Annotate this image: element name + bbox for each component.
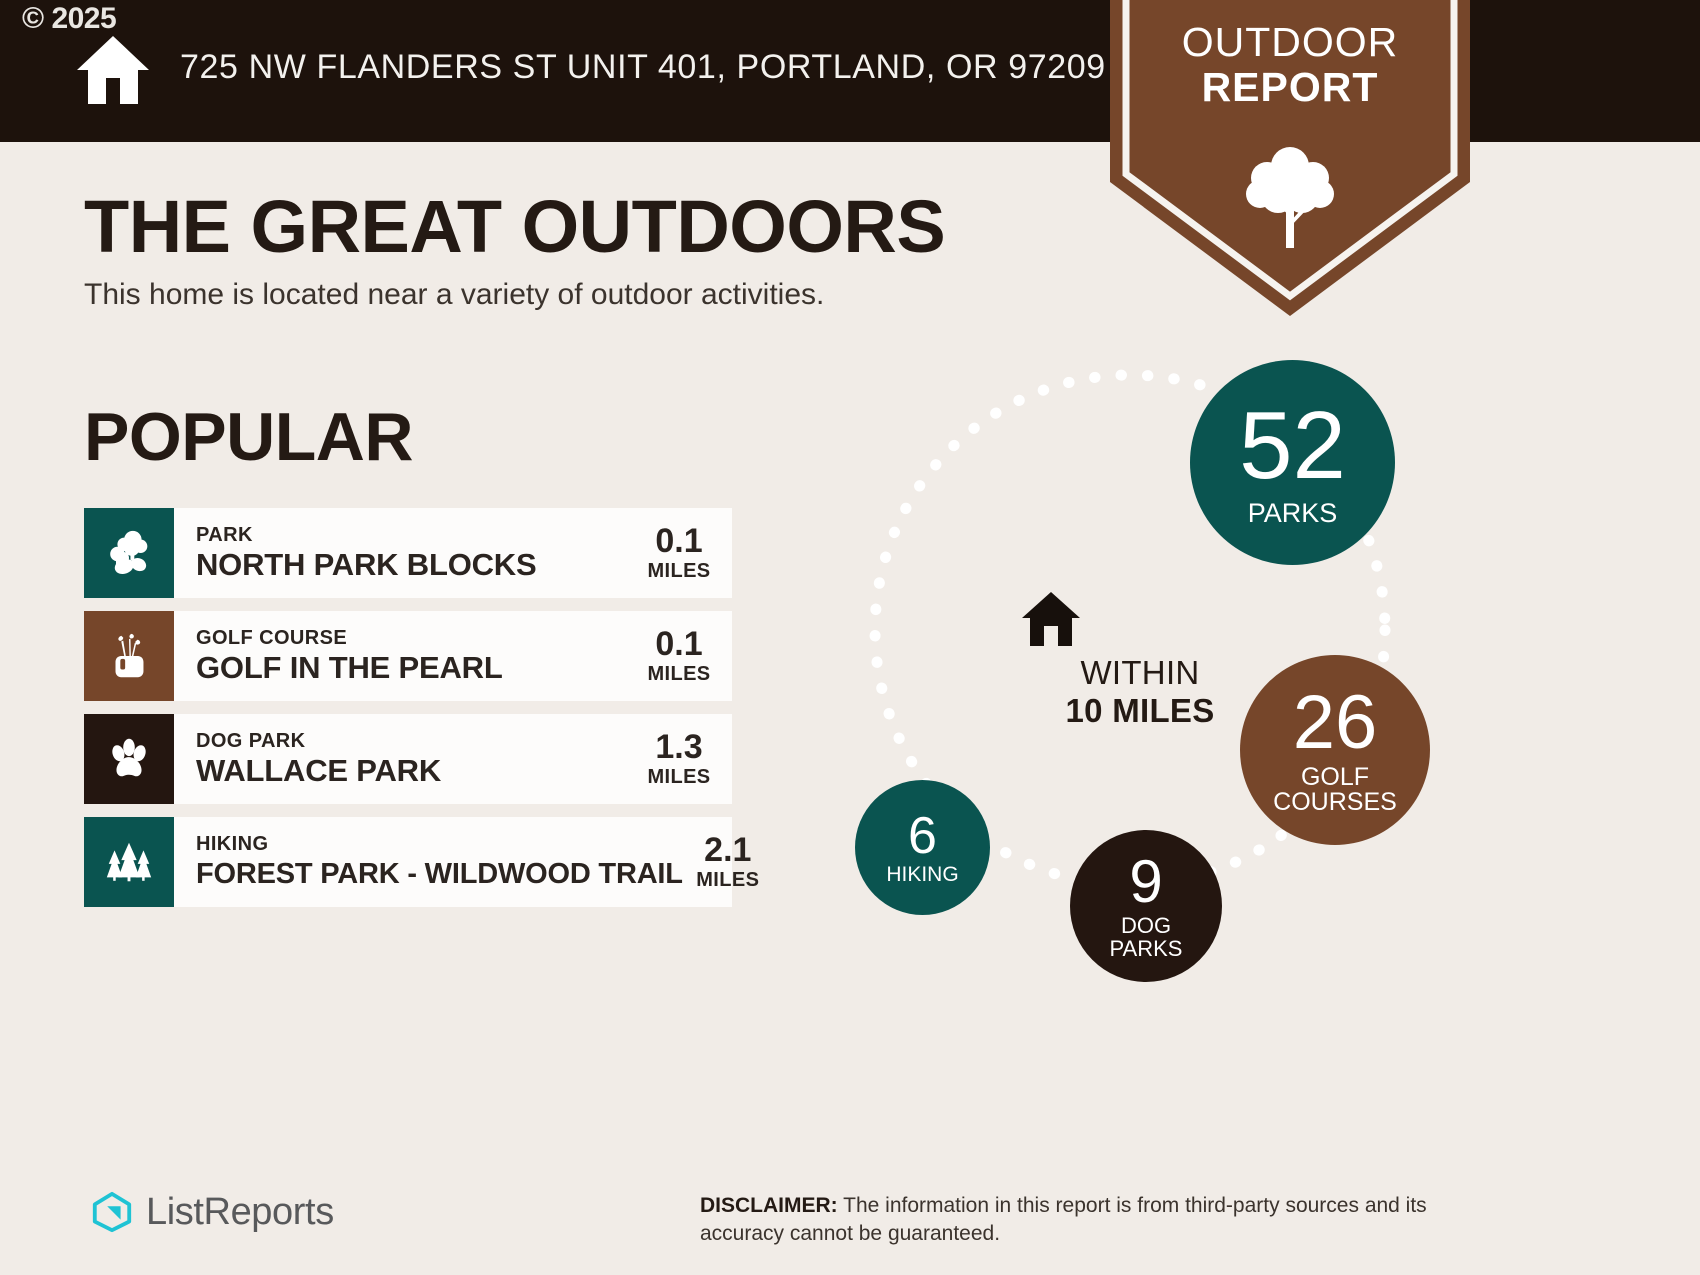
list-item-text: HIKING FOREST PARK - WILDWOOD TRAIL xyxy=(174,817,683,907)
bubble-dog-value: 9 xyxy=(1129,852,1162,912)
park-trees-icon xyxy=(84,508,174,598)
bubble-parks-label: PARKS xyxy=(1248,500,1338,528)
list-item[interactable]: HIKING FOREST PARK - WILDWOOD TRAIL 2.1 … xyxy=(84,817,732,907)
list-item-category: DOG PARK xyxy=(196,729,634,753)
page-subtitle: This home is located near a variety of o… xyxy=(84,278,824,312)
bubble-dog-parks: 9 DOG PARKS xyxy=(1070,830,1222,982)
bubble-golf-label-line1: GOLF xyxy=(1301,765,1369,791)
outdoor-report-badge: OUTDOOR REPORT xyxy=(1110,0,1470,316)
list-item-category: HIKING xyxy=(196,832,683,856)
list-item-distance: 1.3 MILES xyxy=(634,714,732,804)
bubble-parks: 52 PARKS xyxy=(1190,360,1395,565)
listreports-logo-text: ListReports xyxy=(146,1191,334,1234)
list-item-distance-unit: MILES xyxy=(647,559,710,583)
list-item-name: WALLACE PARK xyxy=(196,753,634,789)
list-item-distance: 0.1 MILES xyxy=(634,508,732,598)
list-item-distance-value: 1.3 xyxy=(655,729,702,765)
list-item-distance-value: 0.1 xyxy=(655,626,702,662)
disclaimer-label: DISCLAIMER: xyxy=(700,1194,838,1217)
diagram-center-line1: WITHIN xyxy=(1020,654,1260,692)
bubble-dog-label-line1: DOG xyxy=(1121,915,1171,937)
list-item-distance: 2.1 MILES xyxy=(683,817,781,907)
list-item-distance-unit: MILES xyxy=(647,662,710,686)
popular-heading: POPULAR xyxy=(84,398,413,476)
list-item-distance-value: 2.1 xyxy=(704,832,751,868)
popular-list: PARK NORTH PARK BLOCKS 0.1 MILES xyxy=(84,508,732,920)
list-item-distance-unit: MILES xyxy=(696,868,759,892)
outdoor-report-page: © 2025 725 NW FLANDERS ST UNIT 401, PORT… xyxy=(0,0,1700,1275)
list-item-category: GOLF COURSE xyxy=(196,626,634,650)
property-address: 725 NW FLANDERS ST UNIT 401, PORTLAND, O… xyxy=(180,48,1106,87)
home-icon xyxy=(75,34,151,106)
badge-title: OUTDOOR REPORT xyxy=(1110,20,1470,110)
list-item-distance: 0.1 MILES xyxy=(634,611,732,701)
disclaimer: DISCLAIMER: The information in this repo… xyxy=(700,1192,1500,1248)
list-item-name: FOREST PARK - WILDWOOD TRAIL xyxy=(196,856,683,892)
golf-bag-icon xyxy=(84,611,174,701)
diagram-center-line2: 10 MILES xyxy=(1020,692,1260,730)
copyright-label: © 2025 xyxy=(22,2,116,36)
bubble-hiking: 6 HIKING xyxy=(855,780,990,915)
list-item[interactable]: DOG PARK WALLACE PARK 1.3 MILES xyxy=(84,714,732,804)
pine-trees-icon xyxy=(84,817,174,907)
list-item-text: PARK NORTH PARK BLOCKS xyxy=(174,508,634,598)
badge-title-line2: REPORT xyxy=(1110,65,1470,110)
list-item-category: PARK xyxy=(196,523,634,547)
bubble-golf-label-line2: COURSES xyxy=(1273,790,1397,816)
list-item-name: GOLF IN THE PEARL xyxy=(196,650,634,686)
bubble-dog-label-line2: PARKS xyxy=(1110,938,1183,960)
list-item-distance-value: 0.1 xyxy=(655,523,702,559)
bubble-hiking-label: HIKING xyxy=(886,864,958,885)
list-item-text: GOLF COURSE GOLF IN THE PEARL xyxy=(174,611,634,701)
amenities-diagram: 52 PARKS 26 GOLF COURSES 9 DOG PARKS 6 H… xyxy=(830,340,1470,1020)
listreports-house-icon xyxy=(90,1190,134,1234)
badge-title-line1: OUTDOOR xyxy=(1110,20,1470,65)
list-item-distance-unit: MILES xyxy=(647,765,710,789)
bubble-parks-value: 52 xyxy=(1239,398,1346,494)
list-item[interactable]: PARK NORTH PARK BLOCKS 0.1 MILES xyxy=(84,508,732,598)
list-item[interactable]: GOLF COURSE GOLF IN THE PEARL 0.1 MILES xyxy=(84,611,732,701)
bubble-golf-courses: 26 GOLF COURSES xyxy=(1240,655,1430,845)
list-item-text: DOG PARK WALLACE PARK xyxy=(174,714,634,804)
paw-print-icon xyxy=(84,714,174,804)
tree-icon xyxy=(1240,144,1340,252)
diagram-center: WITHIN 10 MILES xyxy=(1020,590,1260,730)
home-icon xyxy=(1109,590,1171,648)
bubble-hiking-value: 6 xyxy=(908,810,937,862)
listreports-logo[interactable]: ListReports xyxy=(90,1190,334,1234)
list-item-name: NORTH PARK BLOCKS xyxy=(196,547,634,583)
bubble-golf-value: 26 xyxy=(1293,685,1378,761)
page-title: THE GREAT OUTDOORS xyxy=(84,184,945,269)
